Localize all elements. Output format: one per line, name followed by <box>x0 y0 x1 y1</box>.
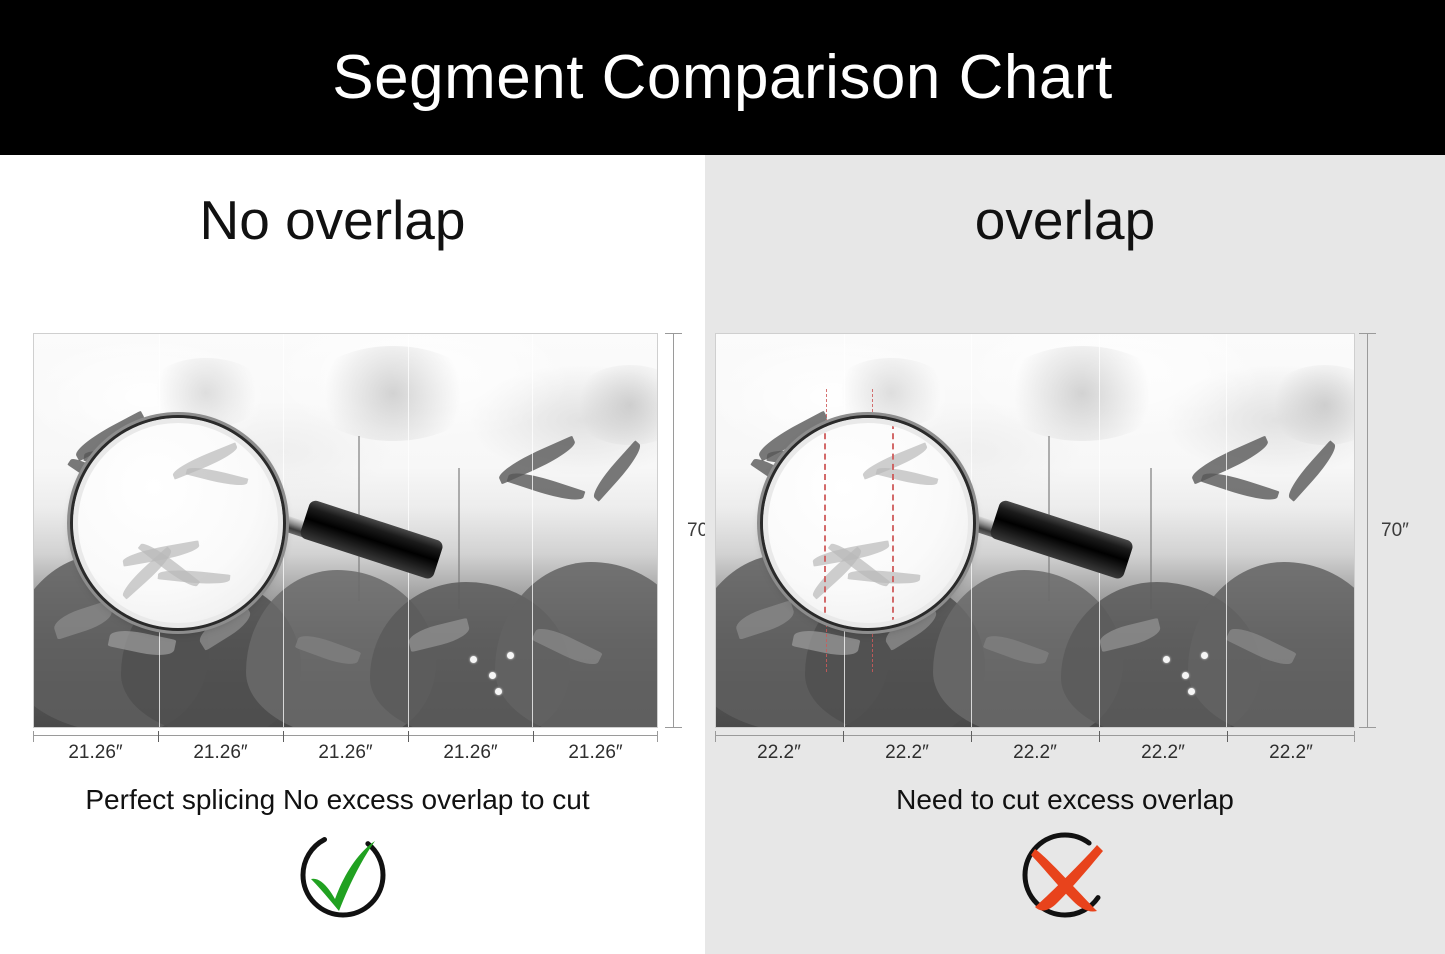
mural-figure-overlap: 70″ 22.2″ 22.2″ 22.2″ 22.2″ 22.2″ <box>715 333 1355 728</box>
caption-no-overlap: Perfect splicing No excess overlap to cu… <box>0 786 690 814</box>
segment-label: 21.26″ <box>33 742 158 764</box>
panel-heading-overlap: overlap <box>695 193 1435 248</box>
segment-label: 21.26″ <box>533 742 658 764</box>
width-ruler-no-overlap: 21.26″ 21.26″ 21.26″ 21.26″ 21.26″ <box>33 735 658 775</box>
verdict-no-overlap <box>0 827 695 923</box>
seam-line <box>971 334 972 727</box>
overlap-guide-line <box>872 389 873 672</box>
segment-label: 22.2″ <box>971 742 1099 764</box>
header-bar: Segment Comparison Chart <box>0 0 1445 155</box>
seam-line <box>283 334 284 727</box>
seam-line <box>1099 334 1100 727</box>
seam-line <box>844 334 845 727</box>
segment-label: 22.2″ <box>843 742 971 764</box>
mural-image-no-overlap <box>33 333 658 728</box>
seam-line <box>532 334 533 727</box>
foliage-artwork <box>716 334 1354 727</box>
page-title: Segment Comparison Chart <box>332 47 1112 109</box>
caption-overlap: Need to cut excess overlap <box>695 786 1435 814</box>
seam-line <box>1226 334 1227 727</box>
seam-line <box>159 334 160 727</box>
segment-label: 22.2″ <box>1227 742 1355 764</box>
segment-label: 21.26″ <box>283 742 408 764</box>
red-cross-icon <box>1017 827 1113 923</box>
mural-figure-no-overlap: 70″ 21.26″ 21.26″ 21.26″ 21.26″ 21.26″ <box>33 333 658 728</box>
mural-image-overlap <box>715 333 1355 728</box>
segment-label: 21.26″ <box>408 742 533 764</box>
foliage-artwork <box>34 334 657 727</box>
seam-line <box>408 334 409 727</box>
height-label: 70″ <box>1381 520 1409 542</box>
segment-comparison-chart: Segment Comparison Chart No overlap <box>0 0 1445 954</box>
segment-label: 22.2″ <box>715 742 843 764</box>
comparison-panels: No overlap <box>0 155 1445 954</box>
segment-label: 22.2″ <box>1099 742 1227 764</box>
width-ruler-overlap: 22.2″ 22.2″ 22.2″ 22.2″ 22.2″ <box>715 735 1355 775</box>
overlap-guide-line <box>826 389 827 672</box>
segment-label: 21.26″ <box>158 742 283 764</box>
panel-overlap: overlap <box>705 155 1445 954</box>
panel-heading-no-overlap: No overlap <box>0 193 685 248</box>
panel-no-overlap: No overlap <box>0 155 705 954</box>
green-check-icon <box>295 827 391 923</box>
verdict-overlap <box>695 827 1435 923</box>
